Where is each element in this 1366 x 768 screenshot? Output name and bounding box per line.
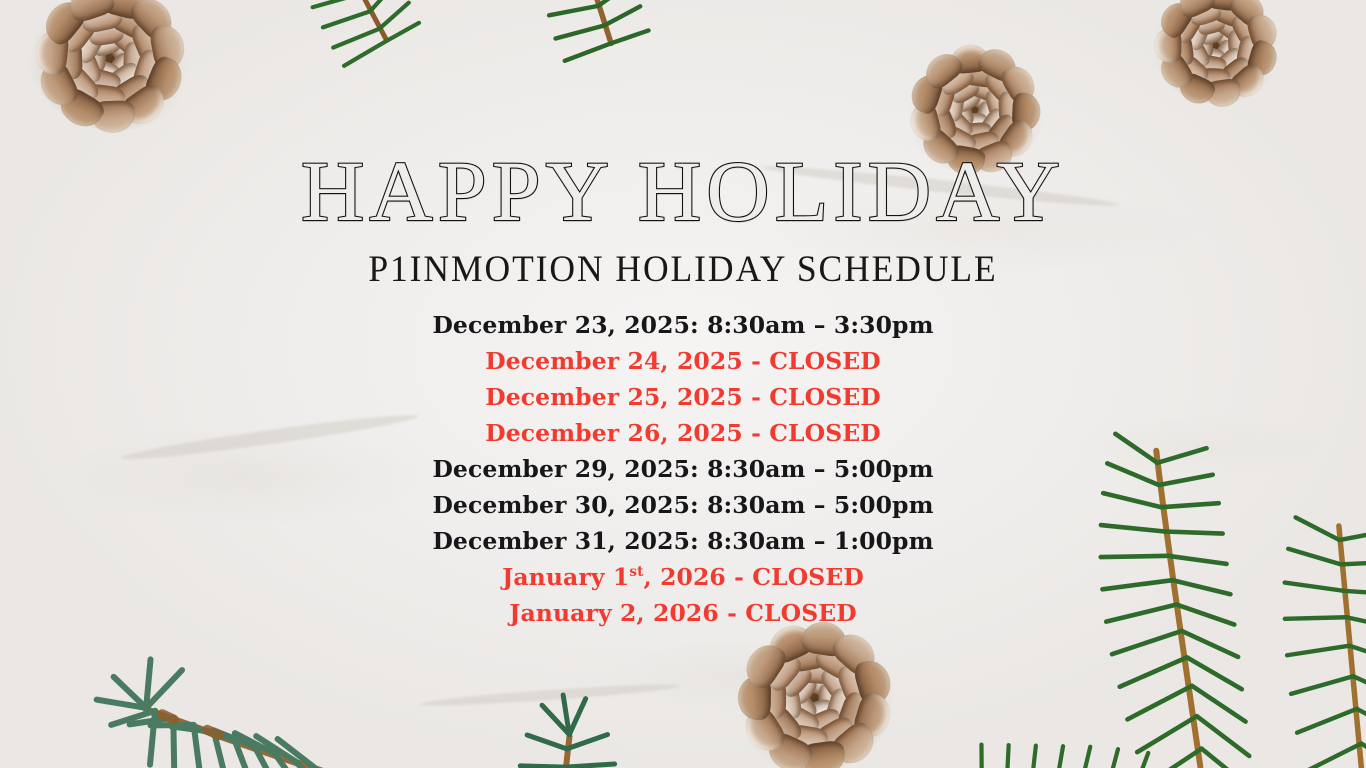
- poster-text-block: HAPPY HOLIDAY P1INMOTION HOLIDAY SCHEDUL…: [0, 148, 1366, 631]
- fir-sprig-top-center: [437, 0, 754, 150]
- holiday-schedule-poster: HAPPY HOLIDAY P1INMOTION HOLIDAY SCHEDUL…: [0, 0, 1366, 768]
- schedule-row-dec-29: December 29, 2025: 8:30am – 5:00pm: [0, 451, 1366, 487]
- page-title-text: HAPPY HOLIDAY: [301, 148, 1065, 234]
- pine-cone-top-right: [1151, 0, 1281, 106]
- schedule-row-jan-2: January 2, 2026 - CLOSED: [0, 595, 1366, 631]
- schedule-row-dec-31: December 31, 2025: 8:30am – 1:00pm: [0, 523, 1366, 559]
- schedule-row-dec-30: December 30, 2025: 8:30am – 5:00pm: [0, 487, 1366, 523]
- page-title: HAPPY HOLIDAY: [0, 148, 1366, 234]
- spruce-sprig-bottom-left-small: [479, 681, 673, 768]
- schedule-row-jan-1: January 1st, 2026 - CLOSED: [0, 559, 1366, 595]
- holiday-schedule-list: December 23, 2025: 8:30am – 3:30pmDecemb…: [0, 307, 1366, 631]
- schedule-row-dec-24: December 24, 2025 - CLOSED: [0, 343, 1366, 379]
- page-subtitle: P1INMOTION HOLIDAY SCHEDULE: [27, 248, 1338, 291]
- schedule-row-dec-23: December 23, 2025: 8:30am – 3:30pm: [0, 307, 1366, 343]
- ordinal-suffix: st: [629, 564, 643, 580]
- schedule-row-dec-25: December 25, 2025 - CLOSED: [0, 379, 1366, 415]
- pine-cone-top-left: [23, 0, 198, 138]
- pine-cone-bottom-center: [721, 608, 908, 768]
- schedule-row-dec-26: December 26, 2025 - CLOSED: [0, 415, 1366, 451]
